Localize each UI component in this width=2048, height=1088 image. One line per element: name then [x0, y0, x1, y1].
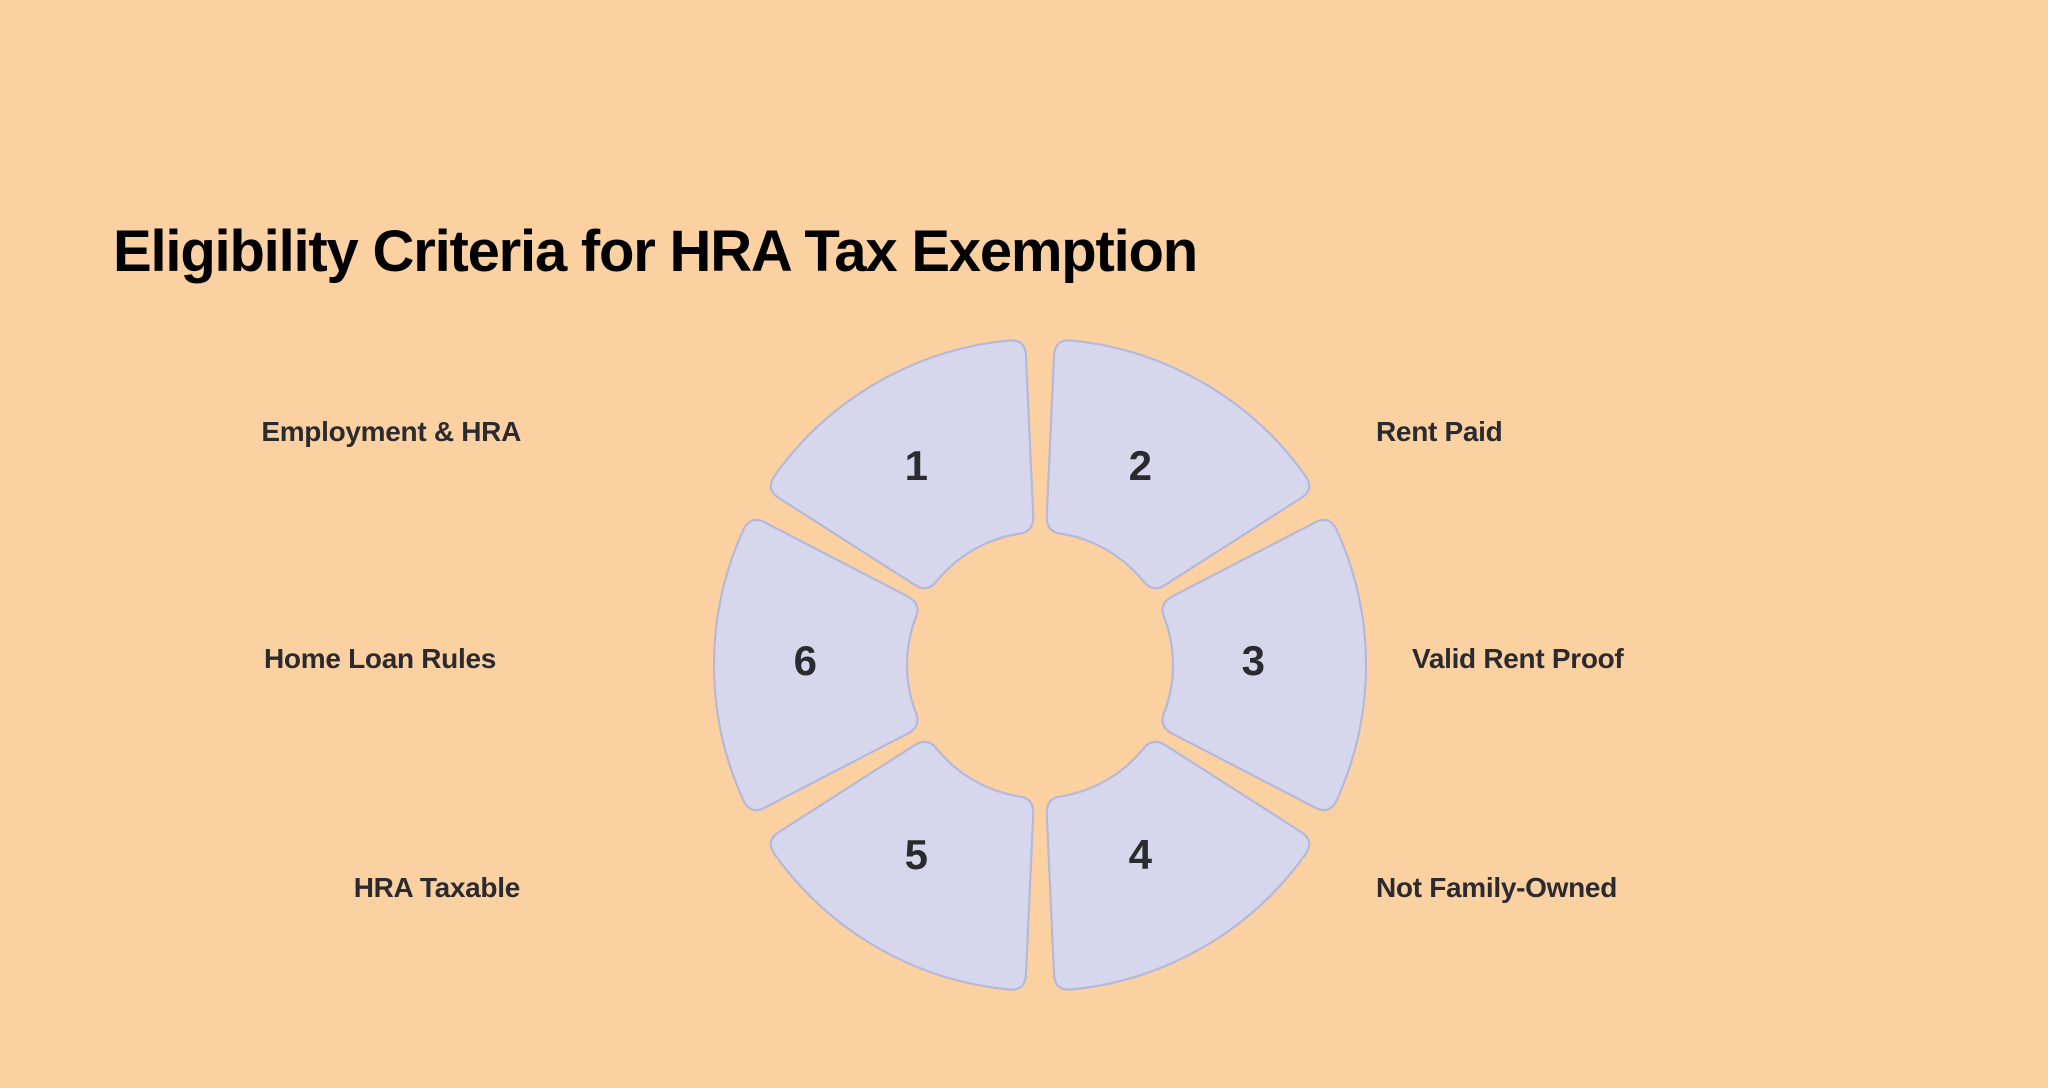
infographic-canvas: Eligibility Criteria for HRA Tax Exempti…	[0, 0, 2048, 1088]
criteria-label-rent-paid: Rent Paid	[1376, 415, 1502, 449]
segment-number-6: 6	[794, 640, 817, 682]
criteria-label-valid-rent-proof: Valid Rent Proof	[1412, 642, 1623, 676]
criteria-label-hra-taxable: HRA Taxable	[354, 871, 520, 905]
segment-number-2: 2	[1129, 445, 1152, 487]
segment-number-4: 4	[1129, 834, 1152, 876]
page-title: Eligibility Criteria for HRA Tax Exempti…	[113, 222, 1197, 283]
criteria-label-not-family-owned: Not Family-Owned	[1376, 871, 1617, 905]
segment-number-5: 5	[905, 834, 928, 876]
criteria-label-employment-hra: Employment & HRA	[261, 415, 521, 449]
segment-number-3: 3	[1242, 640, 1265, 682]
segment-number-1: 1	[905, 445, 928, 487]
criteria-label-home-loan-rules: Home Loan Rules	[264, 642, 496, 676]
